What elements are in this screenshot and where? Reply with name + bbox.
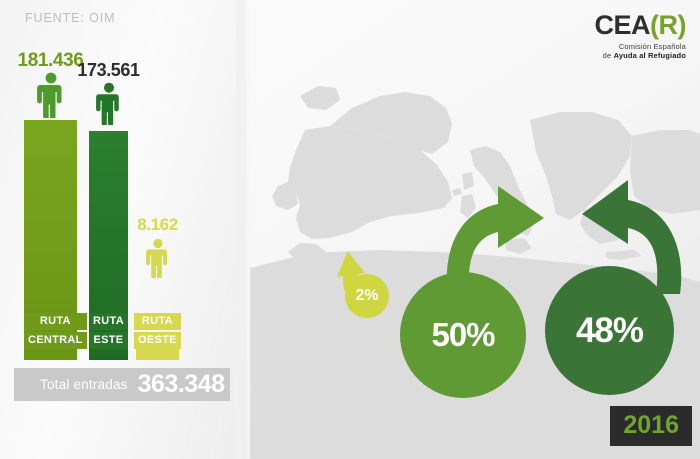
pct-circle-ruta-oeste[interactable]: 2% (345, 274, 389, 318)
year-badge: 2016 (610, 406, 692, 446)
pct-circle-ruta-central[interactable]: 50% (400, 272, 526, 398)
bar-value-ruta-oeste: 8.162 (137, 215, 178, 235)
route-label-line1: RUTA (89, 313, 128, 330)
route-legend: RUTA CENTRAL RUTA ESTE RUTA OESTE (0, 313, 246, 355)
pct-label-ruta-este: 48% (576, 311, 643, 351)
total-entries-label: Total entradas (40, 377, 128, 392)
person-icon-ruta-este (96, 82, 122, 125)
bar-chart: 181.436 173.561 8.162 (0, 0, 246, 360)
route-label-ruta-este[interactable]: RUTA ESTE (89, 313, 128, 350)
logo-subtitle-line1: Comisión Española (595, 42, 687, 51)
route-label-line2: ESTE (89, 332, 128, 349)
logo-subtitle-bold: Ayuda al Refugiado (614, 51, 686, 60)
pct-label-ruta-central: 50% (431, 316, 494, 354)
cear-logo[interactable]: CEA(R) Comisión Española de Ayuda al Ref… (595, 12, 687, 60)
year-label: 2016 (623, 411, 679, 439)
route-label-line1: RUTA (134, 313, 181, 330)
route-label-ruta-oeste[interactable]: RUTA OESTE (134, 313, 181, 350)
bar-value-ruta-este: 173.561 (77, 60, 139, 81)
route-label-line1: RUTA (24, 313, 87, 330)
logo-wordmark: CEA(R) (595, 12, 687, 39)
total-entries-bar: Total entradas 363.348 (14, 368, 230, 401)
logo-wordmark-cea: CEA (595, 10, 651, 40)
route-label-line2: CENTRAL (24, 332, 87, 349)
logo-subtitle-prefix: de (603, 51, 614, 60)
person-icon-ruta-oeste (146, 238, 170, 278)
total-entries-value: 363.348 (138, 370, 225, 399)
route-label-line2: OESTE (134, 332, 181, 349)
logo-wordmark-r: (R) (650, 10, 686, 40)
bar-value-ruta-central: 181.436 (18, 50, 84, 72)
pct-circle-ruta-este[interactable]: 48% (545, 266, 674, 395)
infographic-canvas: FUENTE: OIM 181.436 173.561 8.162 (0, 0, 700, 459)
logo-subtitle-line2: de Ayuda al Refugiado (595, 51, 687, 60)
pct-label-ruta-oeste: 2% (355, 287, 378, 305)
person-icon-ruta-central (37, 72, 65, 118)
route-label-ruta-central[interactable]: RUTA CENTRAL (24, 313, 87, 350)
